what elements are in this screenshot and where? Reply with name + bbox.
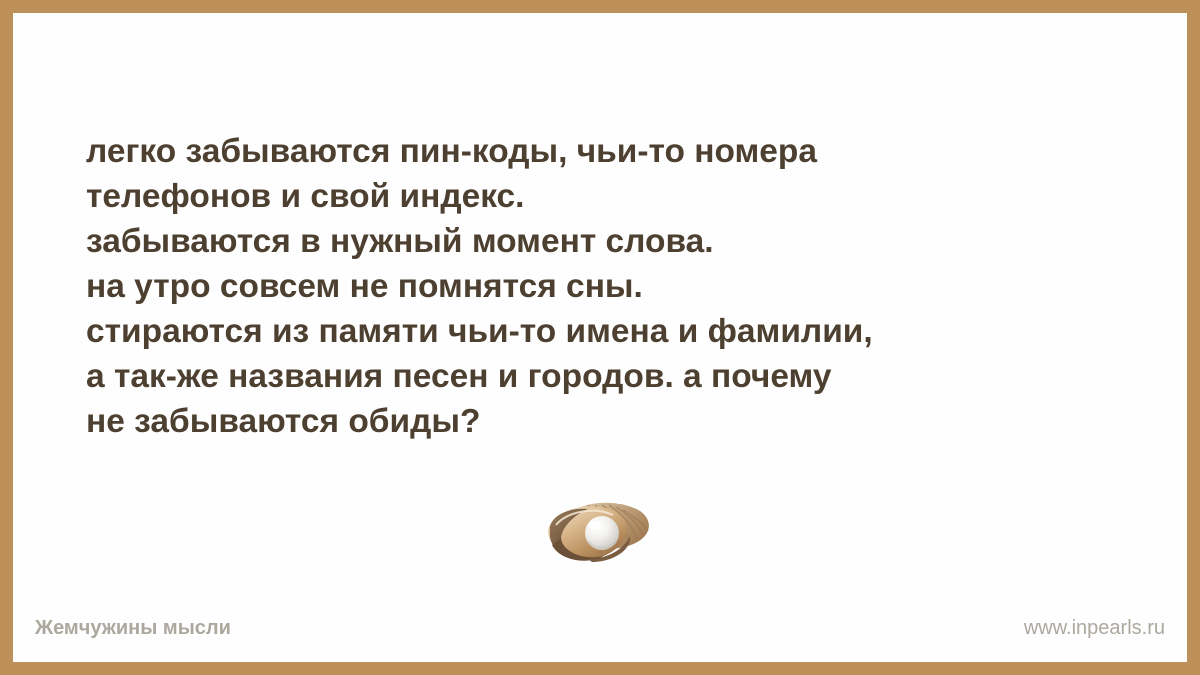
quote-line: стираются из памяти чьи-то имена и фамил… <box>86 309 1096 354</box>
oyster-shell-with-pearl-icon <box>544 489 656 565</box>
quote-line: а так-же названия песен и городов. а поч… <box>86 354 1096 399</box>
quote-line: на утро совсем не помнятся сны. <box>86 264 1096 309</box>
quote-line: не забываются обиды? <box>86 399 1096 444</box>
footer-url[interactable]: www.inpearls.ru <box>1024 617 1165 640</box>
quote-line: легко забываются пин-коды, чьи-то номера <box>86 129 1096 174</box>
quote-line: забываются в нужный момент слова. <box>86 219 1096 264</box>
quote-card: легко забываются пин-коды, чьи-то номера… <box>0 0 1200 675</box>
quote-text: легко забываются пин-коды, чьи-то номера… <box>86 129 1096 444</box>
quote-line: телефонов и свой индекс. <box>86 174 1096 219</box>
footer-brand: Жемчужины мысли <box>35 617 231 640</box>
emblem-container <box>13 481 1187 573</box>
footer: Жемчужины мысли www.inpearls.ru <box>13 608 1187 648</box>
